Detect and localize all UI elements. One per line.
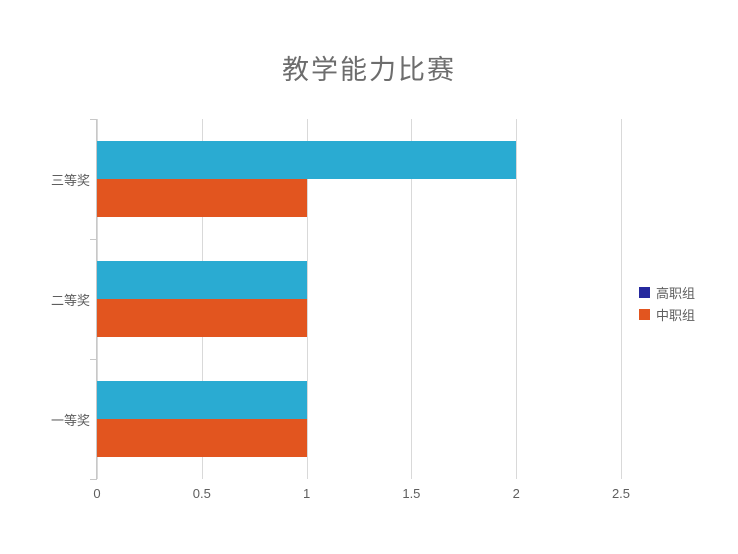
legend-item-高职组[interactable]: 高职组: [639, 281, 695, 303]
y-axis-category-label: 三等奖: [40, 170, 90, 189]
x-axis-tick-label: 0: [72, 486, 122, 501]
bar-高职组-三等奖: [97, 141, 516, 179]
y-axis-tick: [90, 239, 97, 240]
x-axis-tick-label: 2.5: [596, 486, 646, 501]
y-axis-tick: [90, 479, 97, 480]
y-axis-category-label: 一等奖: [40, 410, 90, 429]
legend-swatch-icon: [639, 287, 650, 298]
legend-label: 高职组: [656, 283, 695, 302]
plot-area: [97, 119, 621, 479]
y-axis-category-label: 二等奖: [40, 290, 90, 309]
x-axis-tick-label: 1: [282, 486, 332, 501]
x-axis-tick-label: 2: [491, 486, 541, 501]
bar-中职组-一等奖: [97, 419, 307, 457]
bar-高职组-一等奖: [97, 381, 307, 419]
y-axis-tick: [90, 359, 97, 360]
bar-高职组-二等奖: [97, 261, 307, 299]
chart-title: 教学能力比赛: [0, 48, 738, 87]
legend-swatch-icon: [639, 309, 650, 320]
legend-item-中职组[interactable]: 中职组: [639, 303, 695, 325]
y-axis-tick: [90, 119, 97, 120]
x-axis-tick-label: 0.5: [177, 486, 227, 501]
x-axis-tick-label: 1.5: [386, 486, 436, 501]
chart-legend: 高职组中职组: [639, 281, 695, 325]
bar-中职组-二等奖: [97, 299, 307, 337]
chart-container: 教学能力比赛 一等奖二等奖三等奖 00.511.522.5 高职组中职组: [0, 0, 738, 554]
gridline: [621, 119, 622, 479]
bar-中职组-三等奖: [97, 179, 307, 217]
legend-label: 中职组: [656, 305, 695, 324]
gridline: [516, 119, 517, 479]
